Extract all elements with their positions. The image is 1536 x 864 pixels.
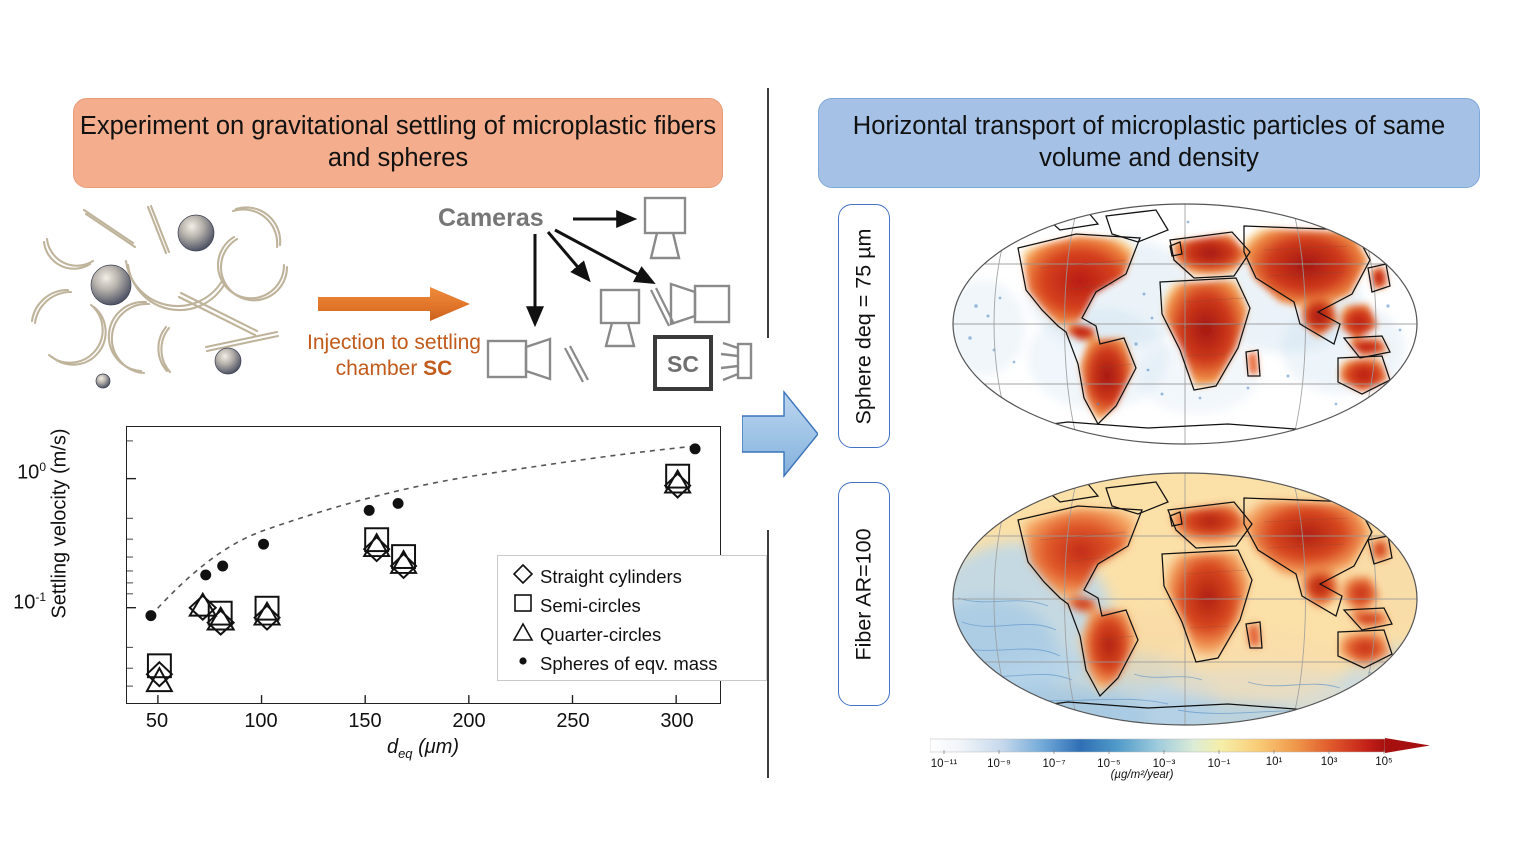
marker-semi-circle <box>148 654 171 677</box>
x-tick-200: 200 <box>452 710 485 733</box>
legend-row-straight-cylinders: Straight cylinders <box>506 562 758 591</box>
chart-legend: Straight cylinders Semi-circles Quarter-… <box>497 555 767 681</box>
dot-icon <box>506 650 540 677</box>
injection-caption-sc: SC <box>423 357 452 380</box>
injection-arrow-icon <box>318 286 470 322</box>
colorbar-tick-2: 10⁻⁷ <box>1042 756 1065 770</box>
injection-caption-line2-prefix: chamber <box>336 357 424 380</box>
colorbar-tick-8: 10⁵ <box>1375 756 1393 768</box>
colorbar-gradient <box>930 736 1430 756</box>
panel-divider-bottom <box>767 530 769 778</box>
colorbar-tick-5: 10⁻¹ <box>1208 756 1231 770</box>
x-tick-100: 100 <box>244 710 277 733</box>
x-tick-250: 250 <box>556 710 589 733</box>
arrow-to-camera-middle <box>548 232 588 279</box>
diamond-icon <box>506 563 540 590</box>
y-tick-1e0: 100 <box>17 460 46 485</box>
x-tick-300: 300 <box>660 710 693 733</box>
legend-label-quarter-circles: Quarter-circles <box>540 624 661 646</box>
camera-icon <box>488 341 526 377</box>
light-source-icon <box>721 343 751 380</box>
world-map-sphere-deposition <box>948 198 1422 450</box>
colorbar-tick-6: 10¹ <box>1266 756 1283 768</box>
colorbar-tick-3: 10⁻⁵ <box>1097 756 1121 770</box>
left-panel-header-text: Experiment on gravitational settling of … <box>74 111 722 175</box>
colorbar-tick-1: 10⁻⁹ <box>987 756 1011 770</box>
right-panel-header: Horizontal transport of microplastic par… <box>818 98 1480 188</box>
camera-setup-schematic: SC <box>455 196 755 411</box>
legend-label-semi-circles: Semi-circles <box>540 595 641 617</box>
right-panel-header-text: Horizontal transport of microplastic par… <box>819 111 1479 175</box>
chart-y-axis-label: Settling velocity (m/s) <box>49 374 72 674</box>
sphere-particle <box>91 265 131 305</box>
legend-row-semi-circles: Semi-circles <box>506 591 758 620</box>
legend-row-quarter-circles: Quarter-circles <box>506 620 758 649</box>
colorbar-tick-7: 10³ <box>1321 756 1338 768</box>
colorbar-unit-label: (µg/m²/year) <box>1111 769 1174 781</box>
sphere-particle <box>96 374 110 388</box>
left-panel-header: Experiment on gravitational settling of … <box>73 98 723 188</box>
chart-x-axis-label: deq (μm) <box>387 736 459 761</box>
colorbar-tick-0: 10⁻¹¹ <box>931 756 958 770</box>
y-tick-1e-1: 10-1 <box>13 590 46 615</box>
camera-icon <box>601 290 639 323</box>
map-label-sphere-text: Sphere deq = 75 µm <box>852 228 877 424</box>
camera-icon <box>645 198 685 233</box>
triangle-icon <box>506 621 540 648</box>
camera-icon <box>695 286 729 322</box>
sphere-particle <box>215 348 241 374</box>
map-label-fiber: Fiber AR=100 <box>838 482 890 706</box>
settling-velocity-chart: Settling velocity (m/s) 100 10-1 <box>38 418 738 763</box>
square-icon <box>506 592 540 619</box>
world-map-fiber-deposition <box>948 466 1422 732</box>
legend-label-straight-cylinders: Straight cylinders <box>540 566 682 588</box>
panel-divider-top <box>767 88 769 338</box>
colorbar: 10⁻¹¹ 10⁻⁹ 10⁻⁷ 10⁻⁵ 10⁻³ 10⁻¹ 10¹ 10³ 1… <box>930 736 1430 782</box>
map-label-sphere: Sphere deq = 75 µm <box>838 204 890 448</box>
legend-row-spheres: Spheres of eqv. mass <box>506 649 758 678</box>
map-label-fiber-text: Fiber AR=100 <box>852 528 877 660</box>
legend-label-spheres: Spheres of eqv. mass <box>540 653 718 675</box>
x-tick-50: 50 <box>146 710 168 733</box>
x-tick-150: 150 <box>348 710 381 733</box>
chart-plot-area: Straight cylinders Semi-circles Quarter-… <box>126 426 721 704</box>
settling-chamber-label: SC <box>667 351 699 377</box>
colorbar-tick-4: 10⁻³ <box>1153 756 1176 770</box>
sphere-particle <box>178 215 214 251</box>
